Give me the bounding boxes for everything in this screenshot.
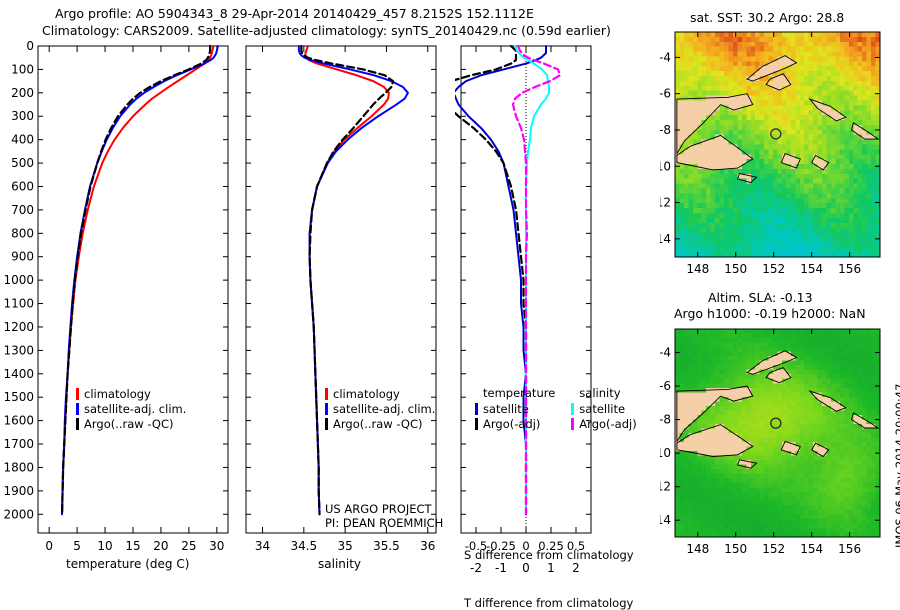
- tick-label: -14: [660, 513, 671, 527]
- sst-map-svg: 148150152154156-4-6-8-10-12-14: [660, 26, 900, 296]
- legend-entry: satellite: [571, 401, 636, 416]
- tick-label: 154: [800, 262, 823, 276]
- legend-swatch-salinity-argo-adj: [571, 418, 574, 430]
- legend-entry: satellite-adj. clim.: [325, 401, 435, 416]
- tick-label: 152: [762, 542, 785, 556]
- tick-label: 148: [686, 262, 709, 276]
- tick-label: 5: [73, 539, 81, 553]
- imos-timestamp: IMOS 06-May-2014 20:00:47: [893, 384, 900, 548]
- temperature-profile-svg: 0100200300400500600700800900100011001200…: [0, 38, 240, 580]
- tick-label: 1800: [3, 460, 34, 474]
- sla-map-title-line2: Argo h1000: -0.19 h2000: NaN: [674, 306, 866, 321]
- legend-entry: climatology: [325, 386, 435, 401]
- tick-label: 156: [838, 262, 861, 276]
- legend-swatch-argo-raw: [76, 418, 79, 430]
- legend-label: satellite-adj. clim.: [333, 402, 435, 416]
- tick-label: -2: [470, 561, 482, 575]
- tick-label: 700: [11, 203, 34, 217]
- tick-label: 150: [724, 262, 747, 276]
- legend-swatch-climatology: [325, 388, 328, 400]
- tick-label: -12: [660, 196, 671, 210]
- tick-label: 800: [11, 226, 34, 240]
- tick-label: 0: [26, 39, 34, 53]
- legend-group-heading: salinity: [571, 386, 636, 401]
- tick-label: 25: [181, 539, 196, 553]
- tick-label: -6: [660, 87, 671, 101]
- salinity-legend: climatology satellite-adj. clim. Argo(..…: [325, 386, 435, 431]
- tick-label: 2: [572, 561, 580, 575]
- tick-label: 200: [11, 86, 34, 100]
- sst-map-title: sat. SST: 30.2 Argo: 28.8: [690, 10, 844, 25]
- legend-label: Argo(..raw -QC): [84, 417, 174, 431]
- salinity-plot-area: 3434.53535.536: [246, 46, 436, 553]
- temperature-xaxis-label: temperature (deg C): [66, 557, 189, 571]
- legend-swatch-climatology: [76, 388, 79, 400]
- tick-label: 0: [45, 539, 53, 553]
- legend-swatch-satellite-adj: [325, 403, 328, 415]
- temperature-profile-panel: 0100200300400500600700800900100011001200…: [0, 38, 240, 580]
- figure-title-line2: Climatology: CARS2009. Satellite-adjuste…: [42, 23, 611, 38]
- legend-swatch-salinity-satellite: [571, 403, 574, 415]
- figure-title-line1: Argo profile: AO 5904343_8 29-Apr-2014 2…: [55, 6, 534, 21]
- tick-label: -8: [660, 123, 671, 137]
- legend-group-heading: temperature: [475, 386, 555, 401]
- sla-map-svg: 148150152154156-4-6-8-10-12-14: [660, 323, 900, 578]
- tick-label: 1600: [3, 414, 34, 428]
- tick-label: 400: [11, 133, 34, 147]
- legend-label: Argo(-adj): [579, 417, 636, 431]
- sst-map-raster: [675, 32, 881, 258]
- legend-entry: satellite-adj. clim.: [76, 401, 186, 416]
- tick-label: 600: [11, 179, 34, 193]
- legend-label: satellite: [579, 402, 625, 416]
- legend-entry: Argo(-adj): [475, 416, 555, 431]
- tick-label: 2000: [3, 507, 34, 521]
- sla-map-raster: [675, 329, 881, 538]
- legend-entry: climatology: [76, 386, 186, 401]
- salinity-tick-labels: 3434.53535.536: [255, 539, 435, 553]
- tick-label: 148: [686, 542, 709, 556]
- tick-label: 35.5: [373, 539, 400, 553]
- tick-label: 1700: [3, 437, 34, 451]
- tick-label: 1000: [3, 273, 34, 287]
- legend-swatch-satellite-adj: [76, 403, 79, 415]
- temperature-legend: climatology satellite-adj. clim. Argo(..…: [76, 386, 186, 431]
- difference-legend-temperature-group: temperature satellite Argo(-adj): [475, 386, 555, 431]
- tick-label: 300: [11, 109, 34, 123]
- legend-swatch-argo-raw: [325, 418, 328, 430]
- legend-label: climatology: [84, 387, 151, 401]
- credit-line-2: PI: DEAN ROEMMICH: [325, 516, 443, 530]
- legend-label: satellite-adj. clim.: [84, 402, 186, 416]
- tick-label: -1: [495, 561, 507, 575]
- tick-label: -6: [660, 379, 671, 393]
- tick-label: 34: [255, 539, 270, 553]
- temperature-plot-area: 0100200300400500600700800900100011001200…: [3, 39, 228, 553]
- tick-label: 500: [11, 156, 34, 170]
- tick-label: 1300: [3, 343, 34, 357]
- legend-entry: Argo(..raw -QC): [76, 416, 186, 431]
- legend-entry: Argo(..raw -QC): [325, 416, 435, 431]
- tick-label: 150: [724, 542, 747, 556]
- difference-legend: temperature satellite Argo(-adj) salinit…: [475, 386, 637, 431]
- legend-label: Argo(..raw -QC): [333, 417, 423, 431]
- legend-label: satellite: [483, 402, 529, 416]
- tick-label: -8: [660, 413, 671, 427]
- tick-label: 154: [800, 542, 823, 556]
- salinity-xaxis-label: salinity: [318, 557, 361, 571]
- sla-map-title-line1: Altim. SLA: -0.13: [708, 290, 813, 305]
- legend-swatch-temperature-satellite: [475, 403, 478, 415]
- tick-label: 100: [11, 62, 34, 76]
- difference-legend-salinity-group: salinity satellite Argo(-adj): [571, 386, 636, 431]
- tick-label: 35: [337, 539, 352, 553]
- argo-project-credit: US ARGO PROJECT PI: DEAN ROEMMICH: [325, 502, 443, 530]
- legend-entry: Argo(-adj): [571, 416, 636, 431]
- tick-label: 1100: [3, 297, 34, 311]
- tick-label: 1500: [3, 390, 34, 404]
- tick-label: 34.5: [290, 539, 317, 553]
- tick-label: -10: [660, 159, 671, 173]
- tick-label: 1200: [3, 320, 34, 334]
- tick-label: 36: [420, 539, 435, 553]
- tick-label: -12: [660, 480, 671, 494]
- tick-label: 1400: [3, 367, 34, 381]
- salinity-profile-svg: 3434.53535.536: [240, 38, 455, 580]
- tick-label: 156: [838, 542, 861, 556]
- tick-label: -10: [660, 446, 671, 460]
- legend-swatch-temperature-argo-adj: [475, 418, 478, 430]
- sla-map-panel: Altim. SLA: -0.13 Argo h1000: -0.19 h200…: [660, 288, 900, 580]
- difference-t-axis-label: T difference from climatology: [464, 596, 633, 610]
- tick-label: 0: [522, 561, 530, 575]
- credit-line-1: US ARGO PROJECT: [325, 502, 443, 516]
- difference-profile-svg: -2-1012-0.5-0.2500.250.5: [455, 38, 660, 580]
- tick-label: 152: [762, 262, 785, 276]
- tick-label: 20: [153, 539, 168, 553]
- salinity-profile-panel: 3434.53535.536 salinity climatology sate…: [240, 38, 455, 580]
- tick-label: 15: [125, 539, 140, 553]
- legend-label: climatology: [333, 387, 400, 401]
- difference-s-axis-label: S difference from climatology: [464, 548, 634, 562]
- tick-label: -4: [660, 345, 671, 359]
- legend-entry: satellite: [475, 401, 555, 416]
- tick-label: 1: [547, 561, 555, 575]
- tick-label: -14: [660, 232, 671, 246]
- tick-label: 1900: [3, 484, 34, 498]
- legend-label: Argo(-adj): [483, 417, 540, 431]
- sst-map-panel: sat. SST: 30.2 Argo: 28.8 14815015215415…: [660, 8, 900, 293]
- difference-plot-area: -2-1012-0.5-0.2500.250.5: [455, 46, 591, 575]
- tick-label: -4: [660, 50, 671, 64]
- difference-profile-panel: -2-1012-0.5-0.2500.250.5 S difference fr…: [455, 38, 660, 580]
- tick-label: 30: [209, 539, 224, 553]
- tick-label: 10: [97, 539, 112, 553]
- tick-label: 900: [11, 250, 34, 264]
